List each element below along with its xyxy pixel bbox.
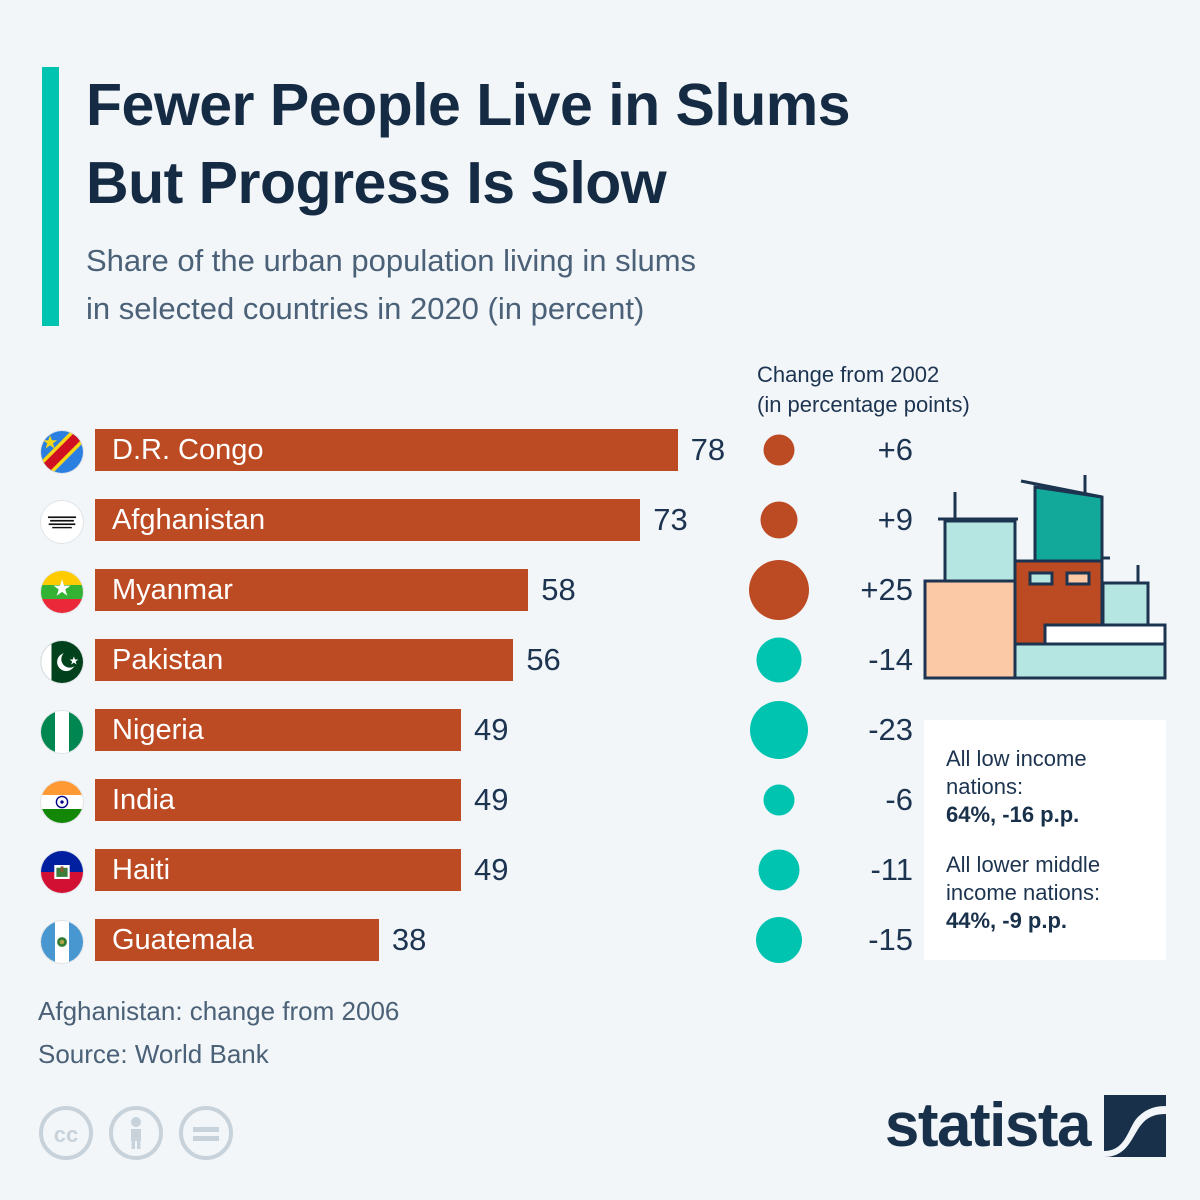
change-value-label: +6 (823, 432, 913, 468)
bar-country-label: Myanmar (95, 574, 233, 607)
low-income-title-line-1: All low income (946, 745, 1144, 773)
no-derivatives-equals-icon[interactable] (178, 1105, 234, 1161)
change-value-label: +25 (823, 572, 913, 608)
footnote-line-1: Afghanistan: change from 2006 (38, 990, 399, 1033)
change-value-label: -15 (823, 922, 913, 958)
low-income-block: All low income nations: 64%, -16 p.p. (946, 745, 1144, 829)
flag-ng-icon (40, 710, 84, 754)
change-value-label: +9 (823, 502, 913, 538)
flag-gt-icon (40, 920, 84, 964)
change-dot (756, 917, 802, 963)
bar-value-label: 56 (526, 639, 560, 681)
bar-value-label: 49 (474, 849, 508, 891)
bar-india: India (95, 779, 461, 821)
change-dot (764, 435, 795, 466)
change-value-label: -11 (823, 852, 913, 888)
bar-value-label: 49 (474, 709, 508, 751)
flag-ht-icon (40, 850, 84, 894)
bar-d-r-congo: D.R. Congo (95, 429, 678, 471)
bar-value-label: 58 (541, 569, 575, 611)
lower-middle-title-line-2: income nations: (946, 879, 1144, 907)
bar-haiti: Haiti (95, 849, 461, 891)
bar-value-label: 49 (474, 779, 508, 821)
bar-pakistan: Pakistan (95, 639, 513, 681)
statista-wordmark: statista (885, 1095, 1090, 1157)
statista-mark-icon (1104, 1095, 1166, 1157)
change-value-label: -14 (823, 642, 913, 678)
bar-value-label: 38 (392, 919, 426, 961)
creative-commons-icons: cc (38, 1105, 234, 1161)
table-row: Guatemala38 (0, 919, 760, 965)
table-row: Myanmar58 (0, 569, 760, 615)
city-buildings-illustration (905, 445, 1195, 695)
attribution-person-icon[interactable] (108, 1105, 164, 1161)
bar-country-label: Afghanistan (95, 504, 265, 537)
bar-country-label: India (95, 784, 175, 817)
change-dot (750, 701, 808, 759)
lower-middle-stat: 44%, -9 p.p. (946, 907, 1144, 935)
lower-middle-title-line-1: All lower middle (946, 851, 1144, 879)
table-row: Afghanistan73 (0, 499, 760, 545)
low-income-stat: 64%, -16 p.p. (946, 801, 1144, 829)
bar-guatemala: Guatemala (95, 919, 379, 961)
flag-mm-icon (40, 570, 84, 614)
buildings-icon (905, 445, 1195, 695)
change-value-label: -6 (823, 782, 913, 818)
table-row: Pakistan56 (0, 639, 760, 685)
bar-value-label: 78 (691, 429, 725, 471)
change-dot (761, 502, 798, 539)
table-row: India49 (0, 779, 760, 825)
bar-nigeria: Nigeria (95, 709, 461, 751)
flag-pk-icon (40, 640, 84, 684)
creative-commons-icon[interactable]: cc (38, 1105, 94, 1161)
flag-cd-icon (40, 430, 84, 474)
change-dot (764, 785, 795, 816)
table-row: Nigeria49 (0, 709, 760, 755)
bar-value-label: 73 (653, 499, 687, 541)
flag-in-icon (40, 780, 84, 824)
footnote-line-2: Source: World Bank (38, 1033, 399, 1076)
bar-country-label: D.R. Congo (95, 434, 264, 467)
svg-text:cc: cc (54, 1122, 78, 1147)
bar-country-label: Haiti (95, 854, 170, 887)
low-income-title-line-2: nations: (946, 773, 1144, 801)
bar-country-label: Pakistan (95, 644, 223, 677)
bar-country-label: Guatemala (95, 924, 254, 957)
statista-logo[interactable]: statista (885, 1095, 1166, 1157)
flag-af-icon (40, 500, 84, 544)
footnote: Afghanistan: change from 2006 Source: Wo… (38, 990, 399, 1076)
change-dot (757, 638, 802, 683)
bar-country-label: Nigeria (95, 714, 204, 747)
income-summary-box: All low income nations: 64%, -16 p.p. Al… (924, 720, 1166, 960)
change-dot (749, 560, 809, 620)
change-value-label: -23 (823, 712, 913, 748)
table-row: Haiti49 (0, 849, 760, 895)
bar-myanmar: Myanmar (95, 569, 528, 611)
change-dot (759, 850, 800, 891)
bar-afghanistan: Afghanistan (95, 499, 640, 541)
lower-middle-income-block: All lower middle income nations: 44%, -9… (946, 851, 1144, 935)
table-row: D.R. Congo78 (0, 429, 760, 475)
